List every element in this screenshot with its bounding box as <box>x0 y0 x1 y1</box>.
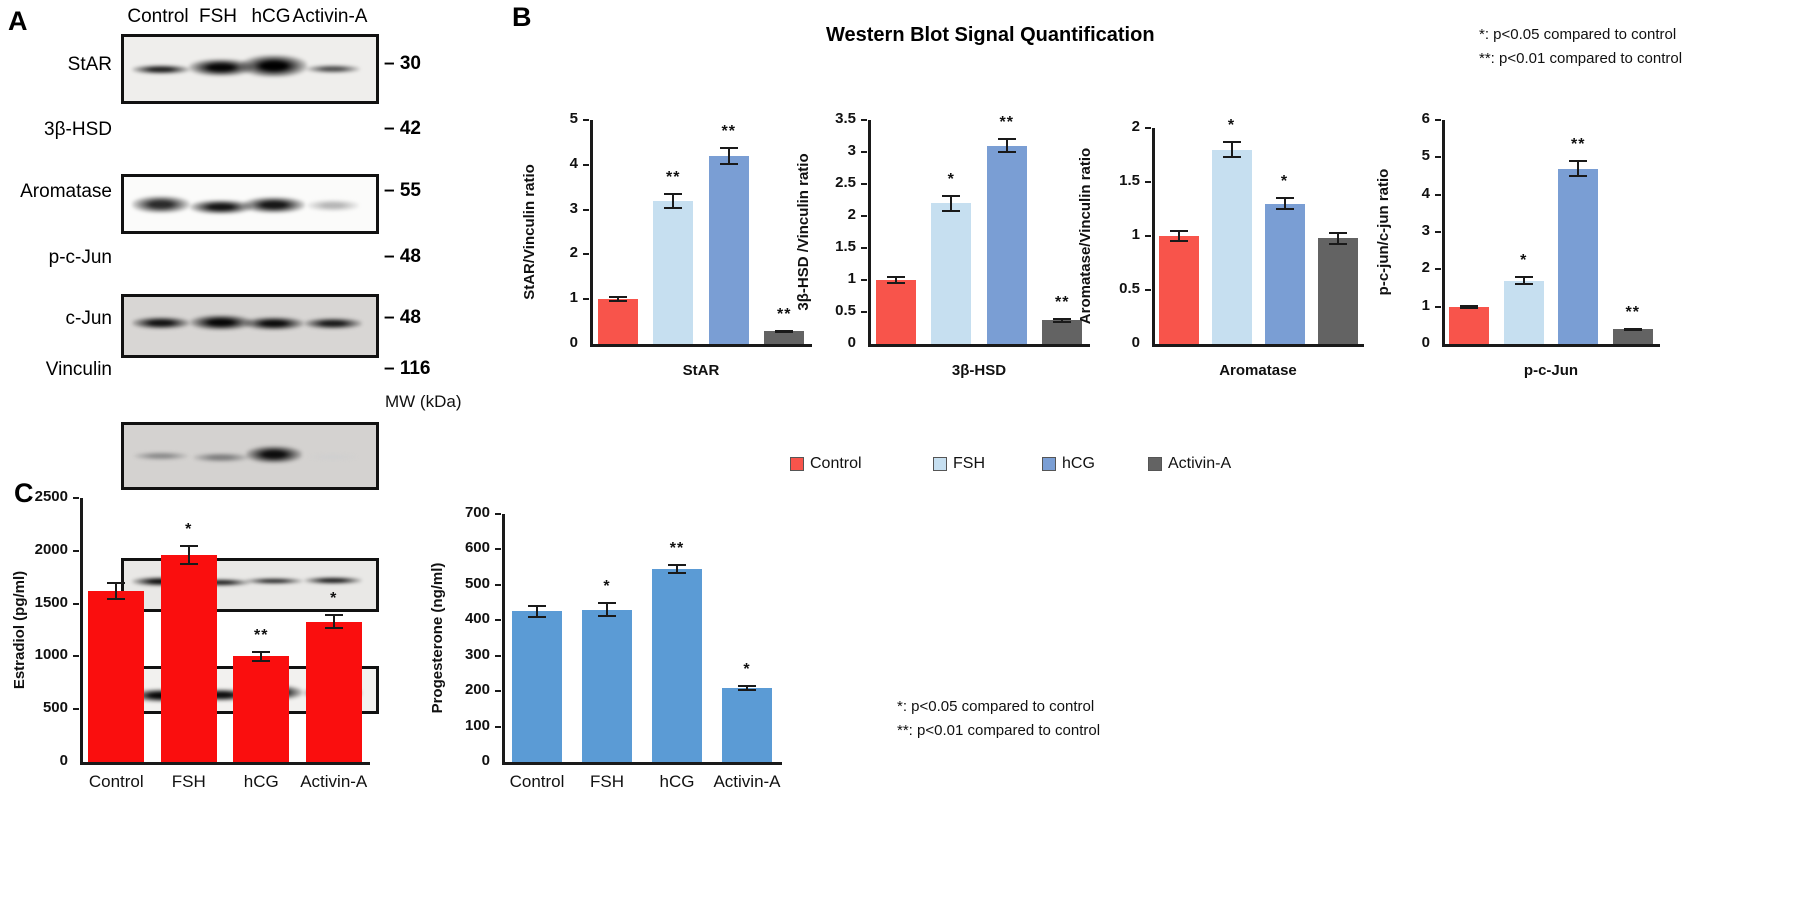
y-tick <box>1435 231 1441 233</box>
error-bar <box>668 564 686 575</box>
y-tick-label: 600 <box>440 539 490 556</box>
significance-marker: * <box>1494 252 1554 270</box>
panel-b-letter: B <box>512 2 532 33</box>
bar-aromatase-control <box>1159 236 1199 344</box>
y-tick <box>861 183 867 185</box>
legend-swatch-icon <box>1042 457 1056 471</box>
significance-marker: * <box>159 521 219 539</box>
y-axis-title: Aromatase/Vinculin ratio <box>1077 148 1094 324</box>
y-tick-label: 2500 <box>18 488 68 505</box>
y-tick-label: 6 <box>1380 110 1430 127</box>
y-tick-label: 1 <box>1380 297 1430 314</box>
error-bar <box>325 614 343 630</box>
y-axis-title: 3β-HSD /Vinculin ratio <box>795 153 812 310</box>
y-tick <box>1145 289 1151 291</box>
x-category-label: Activin-A <box>695 772 799 792</box>
y-tick-label: 400 <box>440 610 490 627</box>
panel-c: C 05001000150020002500Estradiol (pg/ml)C… <box>0 470 1795 897</box>
y-axis-title: Estradiol (pg/ml) <box>11 571 28 689</box>
y-tick <box>495 548 501 550</box>
y-tick-label: 0 <box>1380 334 1430 351</box>
error-bar <box>738 685 756 691</box>
error-bar <box>180 545 198 565</box>
y-tick-label: 300 <box>440 646 490 663</box>
y-tick <box>583 253 589 255</box>
significance-marker: * <box>717 661 777 679</box>
y-tick <box>1435 119 1441 121</box>
y-tick <box>861 279 867 281</box>
bar-estradiol-activin-a <box>306 622 362 762</box>
chart-hsd: 00.511.522.533.53β-HSD /Vinculin ratio**… <box>806 120 1118 414</box>
y-axis-line <box>80 498 83 764</box>
y-tick-label: 2000 <box>18 541 68 558</box>
panel-c-sig-note-2: **: p<0.01 compared to control <box>897 722 1100 739</box>
y-tick <box>583 209 589 211</box>
legend-swatch-icon <box>1148 457 1162 471</box>
bar-star-activin-a <box>764 331 804 344</box>
y-axis-line <box>868 120 871 346</box>
significance-marker: ** <box>1603 304 1663 322</box>
y-tick-label: 0 <box>806 334 856 351</box>
y-tick <box>73 497 79 499</box>
error-bar <box>107 582 125 600</box>
y-tick-label: 2 <box>1090 118 1140 135</box>
y-axis-line <box>1442 120 1445 346</box>
y-tick-label: 0 <box>1090 334 1140 351</box>
bar-progesterone-hcg <box>652 569 702 762</box>
y-tick <box>1435 156 1441 158</box>
error-bar <box>942 195 960 212</box>
error-bar <box>252 651 270 663</box>
y-tick <box>1145 181 1151 183</box>
y-axis-line <box>1152 128 1155 346</box>
y-tick <box>861 151 867 153</box>
error-bar <box>598 602 616 618</box>
bar-pcjun-activin-a <box>1613 329 1653 344</box>
error-bar <box>1329 232 1347 245</box>
y-tick-label: 1 <box>806 270 856 287</box>
y-axis-title: StAR/Vinculin ratio <box>521 164 538 300</box>
panel-c-sig-note-1: *: p<0.05 compared to control <box>897 698 1094 715</box>
y-axis-line <box>590 120 593 346</box>
error-bar <box>1223 141 1241 158</box>
error-bar <box>1515 276 1533 285</box>
significance-marker: * <box>577 578 637 596</box>
x-axis-line <box>590 344 812 347</box>
y-tick-label: 200 <box>440 681 490 698</box>
y-axis-title: Progesterone (ng/ml) <box>429 563 446 714</box>
significance-marker: * <box>921 171 981 189</box>
legend-swatch-icon <box>790 457 804 471</box>
y-tick <box>861 119 867 121</box>
panel-b-sig-note-2: **: p<0.01 compared to control <box>1479 50 1682 67</box>
y-tick <box>1435 306 1441 308</box>
bar-progesterone-control <box>512 611 562 762</box>
y-tick <box>861 247 867 249</box>
y-axis-line <box>502 514 505 764</box>
panel-b-title: Western Blot Signal Quantification <box>826 24 1155 47</box>
chart-star: 012345StAR/Vinculin ratio******StAR <box>528 120 840 414</box>
y-tick-label: 700 <box>440 504 490 521</box>
y-tick <box>73 550 79 552</box>
y-tick <box>495 655 501 657</box>
error-bar <box>528 605 546 618</box>
y-tick <box>1145 235 1151 237</box>
significance-marker: ** <box>643 169 703 187</box>
significance-marker: ** <box>699 123 759 141</box>
y-tick-label: 5 <box>1380 147 1430 164</box>
chart-estradiol: 05001000150020002500Estradiol (pg/ml)Con… <box>18 498 398 832</box>
y-tick-label: 5 <box>528 110 578 127</box>
bar-hsd-fsh <box>931 203 971 344</box>
y-tick <box>495 513 501 515</box>
x-axis-line <box>502 762 782 765</box>
y-tick <box>495 619 501 621</box>
y-tick-label: 2 <box>806 206 856 223</box>
y-tick-label: 3.5 <box>806 110 856 127</box>
chart-progesterone: 0100200300400500600700Progesterone (ng/m… <box>440 514 810 832</box>
significance-marker: * <box>1255 173 1315 191</box>
y-tick <box>73 655 79 657</box>
chart-aromatase: 00.511.52Aromatase/Vinculin ratio**Aroma… <box>1090 128 1392 414</box>
y-tick <box>495 584 501 586</box>
error-bar <box>887 276 905 285</box>
y-tick-label: 0 <box>18 752 68 769</box>
y-tick <box>73 603 79 605</box>
x-axis-line <box>1152 344 1364 347</box>
bar-hsd-control <box>876 280 916 344</box>
bar-estradiol-hcg <box>233 656 289 762</box>
significance-marker: ** <box>1548 136 1608 154</box>
error-bar <box>664 193 682 209</box>
panel-b: B Western Blot Signal Quantification *: … <box>0 0 1795 500</box>
x-axis-line <box>80 762 370 765</box>
x-axis-title: 3β-HSD <box>868 362 1090 379</box>
bar-star-control <box>598 299 638 344</box>
bar-aromatase-hcg <box>1265 204 1305 344</box>
error-bar <box>720 147 738 165</box>
bar-estradiol-fsh <box>161 555 217 762</box>
panel-b-sig-note-1: *: p<0.05 compared to control <box>1479 26 1676 43</box>
legend-swatch-icon <box>933 457 947 471</box>
bar-estradiol-control <box>88 591 144 762</box>
y-tick <box>583 298 589 300</box>
error-bar <box>1276 197 1294 210</box>
x-axis-line <box>868 344 1090 347</box>
bar-pcjun-control <box>1449 307 1489 344</box>
bar-aromatase-fsh <box>1212 150 1252 344</box>
y-tick-label: 500 <box>18 699 68 716</box>
y-tick-label: 0 <box>440 752 490 769</box>
y-tick-label: 500 <box>440 575 490 592</box>
error-bar <box>1170 230 1188 243</box>
bar-star-hcg <box>709 156 749 344</box>
y-tick <box>495 726 501 728</box>
x-axis-title: Aromatase <box>1152 362 1364 379</box>
x-axis-title: p-c-Jun <box>1442 362 1660 379</box>
significance-marker: ** <box>977 114 1037 132</box>
error-bar <box>998 138 1016 153</box>
significance-marker: * <box>1202 117 1262 135</box>
significance-marker: ** <box>231 627 291 645</box>
error-bar <box>609 296 627 302</box>
error-bar <box>775 330 793 333</box>
error-bar <box>1569 160 1587 177</box>
bar-progesterone-fsh <box>582 610 632 762</box>
bar-hsd-hcg <box>987 146 1027 344</box>
bar-star-fsh <box>653 201 693 344</box>
bar-progesterone-activin-a <box>722 688 772 762</box>
y-tick <box>1435 268 1441 270</box>
y-tick-label: 100 <box>440 717 490 734</box>
y-tick-label: 0.5 <box>1090 280 1140 297</box>
y-tick-label: 2.5 <box>806 174 856 191</box>
y-tick-label: 3 <box>806 142 856 159</box>
y-tick-label: 1.5 <box>806 238 856 255</box>
error-bar <box>1460 305 1478 309</box>
significance-marker: ** <box>647 540 707 558</box>
y-tick <box>583 164 589 166</box>
y-tick <box>861 215 867 217</box>
y-tick <box>861 311 867 313</box>
y-tick <box>495 690 501 692</box>
bar-pcjun-hcg <box>1558 169 1598 344</box>
x-category-label: Activin-A <box>282 772 386 792</box>
y-axis-title: p-c-jun/c-jun ratio <box>1375 169 1392 296</box>
y-tick <box>1435 194 1441 196</box>
y-tick <box>583 119 589 121</box>
x-axis-title: StAR <box>590 362 812 379</box>
bar-aromatase-activin-a <box>1318 238 1358 344</box>
y-tick-label: 0.5 <box>806 302 856 319</box>
bar-pcjun-fsh <box>1504 281 1544 344</box>
y-tick-label: 1 <box>1090 226 1140 243</box>
y-tick-label: 0 <box>528 334 578 351</box>
y-tick <box>73 708 79 710</box>
y-tick <box>1145 127 1151 129</box>
significance-marker: * <box>304 590 364 608</box>
error-bar <box>1053 318 1071 323</box>
error-bar <box>1624 328 1642 331</box>
chart-pcjun: 0123456p-c-jun/c-jun ratio*****p-c-Jun <box>1380 120 1688 414</box>
x-axis-line <box>1442 344 1660 347</box>
y-tick-label: 1.5 <box>1090 172 1140 189</box>
